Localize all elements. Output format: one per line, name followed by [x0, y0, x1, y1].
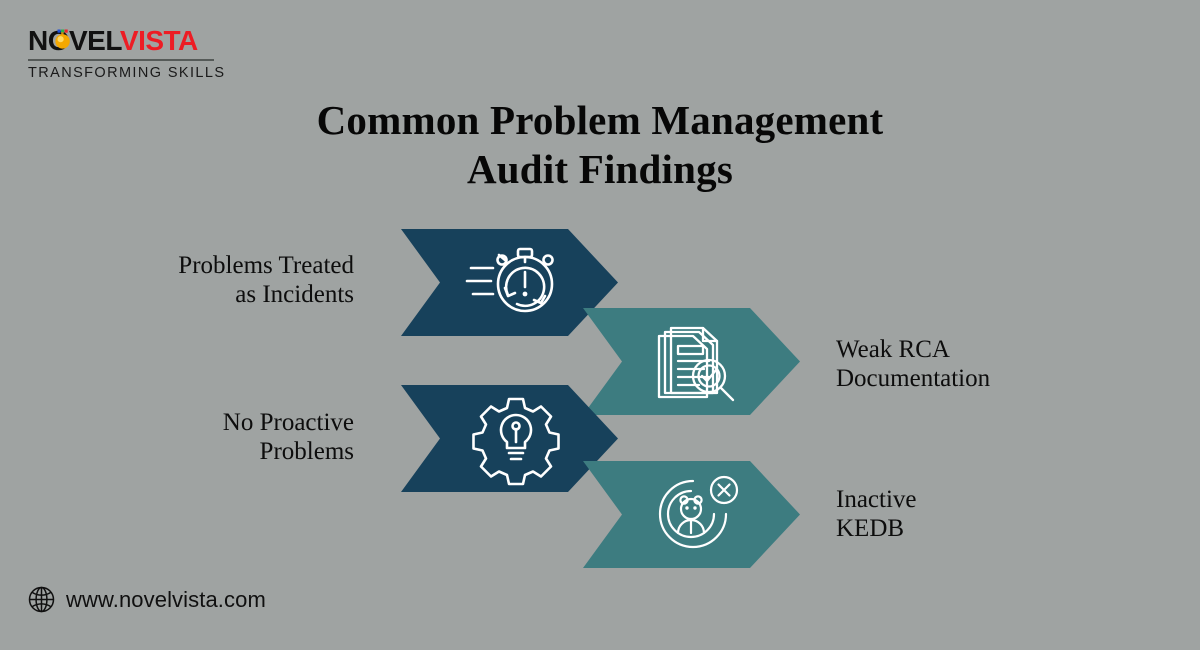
chevron-shape — [583, 461, 801, 568]
finding-item-inactive-kedb[interactable] — [583, 461, 801, 568]
findings-diagram: Problems Treated as Incidents Weak RCA D… — [0, 0, 1200, 650]
finding-label-problems-treated-as-incidents: Problems Treated as Incidents — [120, 251, 354, 309]
globe-icon — [28, 586, 55, 613]
finding-label-inactive-kedb: Inactive KEDB — [836, 485, 1096, 543]
footer-url-text: www.novelvista.com — [66, 587, 266, 613]
finding-label-weak-rca-documentation: Weak RCA Documentation — [836, 335, 1096, 393]
footer: www.novelvista.com — [28, 586, 266, 613]
finding-label-no-proactive-problems: No Proactive Problems — [120, 408, 354, 466]
